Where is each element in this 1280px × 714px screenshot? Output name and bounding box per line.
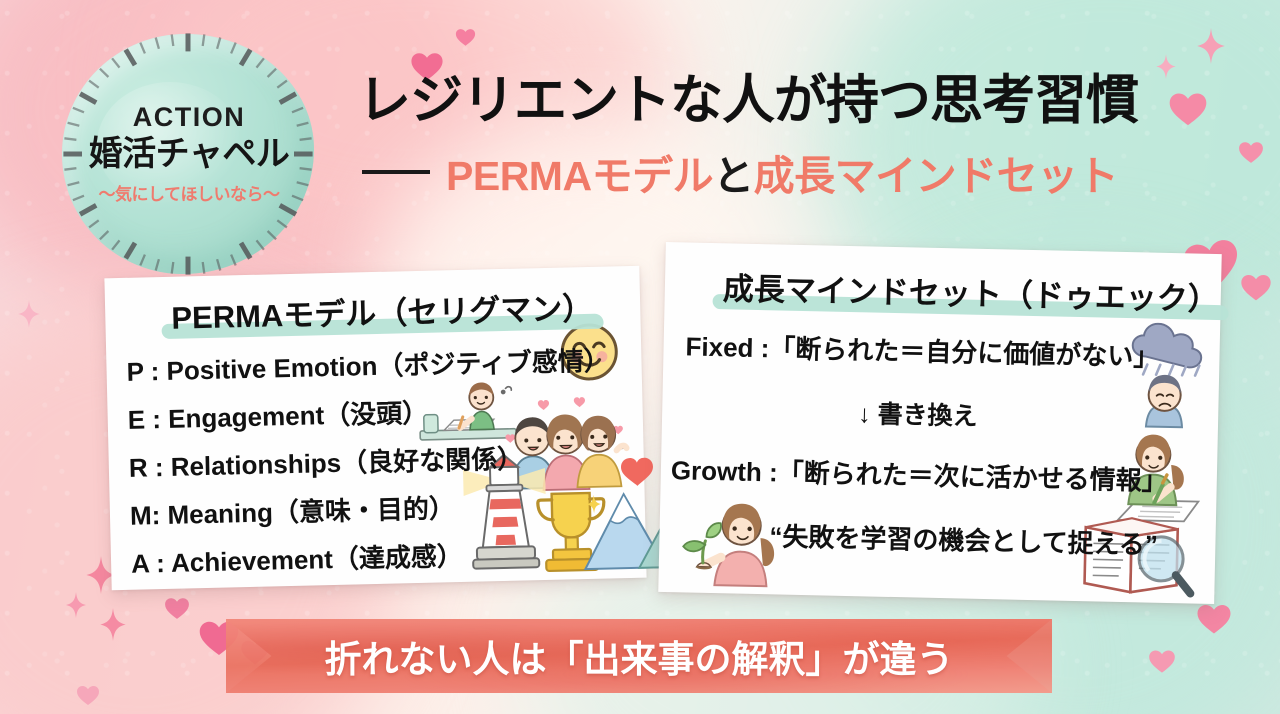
sparkle-icon — [66, 592, 86, 623]
perma-item-a: A : Achievement（達成感） — [131, 536, 464, 581]
page-title: レジリエントな人が持つ思考習慣 — [358, 72, 1238, 129]
brand-badge: ACTION 婚活チャペル 〜気にしてほしいなら〜 — [44, 26, 334, 282]
badge-action-label: ACTION — [133, 103, 246, 133]
heart-icon — [1240, 272, 1272, 302]
heart-icon — [1238, 140, 1264, 164]
sparkle-icon — [18, 300, 40, 333]
sparkle-icon — [100, 608, 126, 646]
heart-icon — [455, 27, 476, 47]
perma-item-e: E : Engagement（没頭） — [127, 393, 428, 437]
header: レジリエントな人が持つ思考習慣 PERMAモデルと成長マインドセット — [358, 72, 1238, 202]
heart-icon — [76, 684, 100, 706]
sparkle-icon — [1196, 28, 1226, 69]
perma-card-heading-text: PERMAモデル（セリグマン） — [165, 283, 600, 338]
heart-icon — [1196, 602, 1232, 635]
page-subtitle: PERMAモデルと成長マインドセット — [446, 142, 1118, 202]
badge-tagline: 〜気にしてほしいなら〜 — [99, 180, 280, 205]
perma-card-heading: PERMAモデル（セリグマン） — [165, 283, 600, 338]
bottom-ribbon-banner: 折れない人は「出来事の解釈」が違う — [226, 619, 1052, 693]
rewrite-arrow-line: ↓ 書き換え — [858, 394, 978, 433]
fixed-mindset-line: Fixed :「断られた＝自分に価値がない」 — [685, 326, 1159, 373]
perma-item-p: P : Positive Emotion（ポジティブ感情） — [126, 340, 610, 388]
badge-text-block: ACTION 婚活チャペル 〜気にしてほしいなら〜 — [44, 26, 334, 282]
perma-item-m: M: Meaning（意味・目的） — [130, 488, 456, 533]
heart-icon — [1148, 648, 1176, 674]
heart-icon — [164, 596, 190, 620]
ribbon-text: 折れない人は「出来事の解釈」が違う — [226, 619, 1052, 693]
subtitle-part2: 成長マインドセット — [754, 153, 1119, 199]
growth-quote-line: “失敗を学習の機会として捉える” — [769, 516, 1158, 561]
subtitle-row: PERMAモデルと成長マインドセット — [358, 142, 1238, 202]
badge-name: 婚活チャペル — [89, 135, 290, 174]
growth-card-heading: 成長マインドセット（ドゥエック） — [716, 263, 1225, 319]
perma-model-card: PERMAモデル（セリグマン） P : Positive Emotion（ポジテ… — [104, 266, 646, 591]
subtitle-part1: PERMAモデル — [446, 153, 713, 199]
subtitle-conjunction: と — [713, 153, 754, 199]
growth-mindset-card: 成長マインドセット（ドゥエック） Fixed :「断られた＝自分に価値がない」 … — [658, 242, 1222, 604]
growth-card-heading-text: 成長マインドセット（ドゥエック） — [716, 263, 1225, 319]
subtitle-rule — [362, 170, 430, 174]
